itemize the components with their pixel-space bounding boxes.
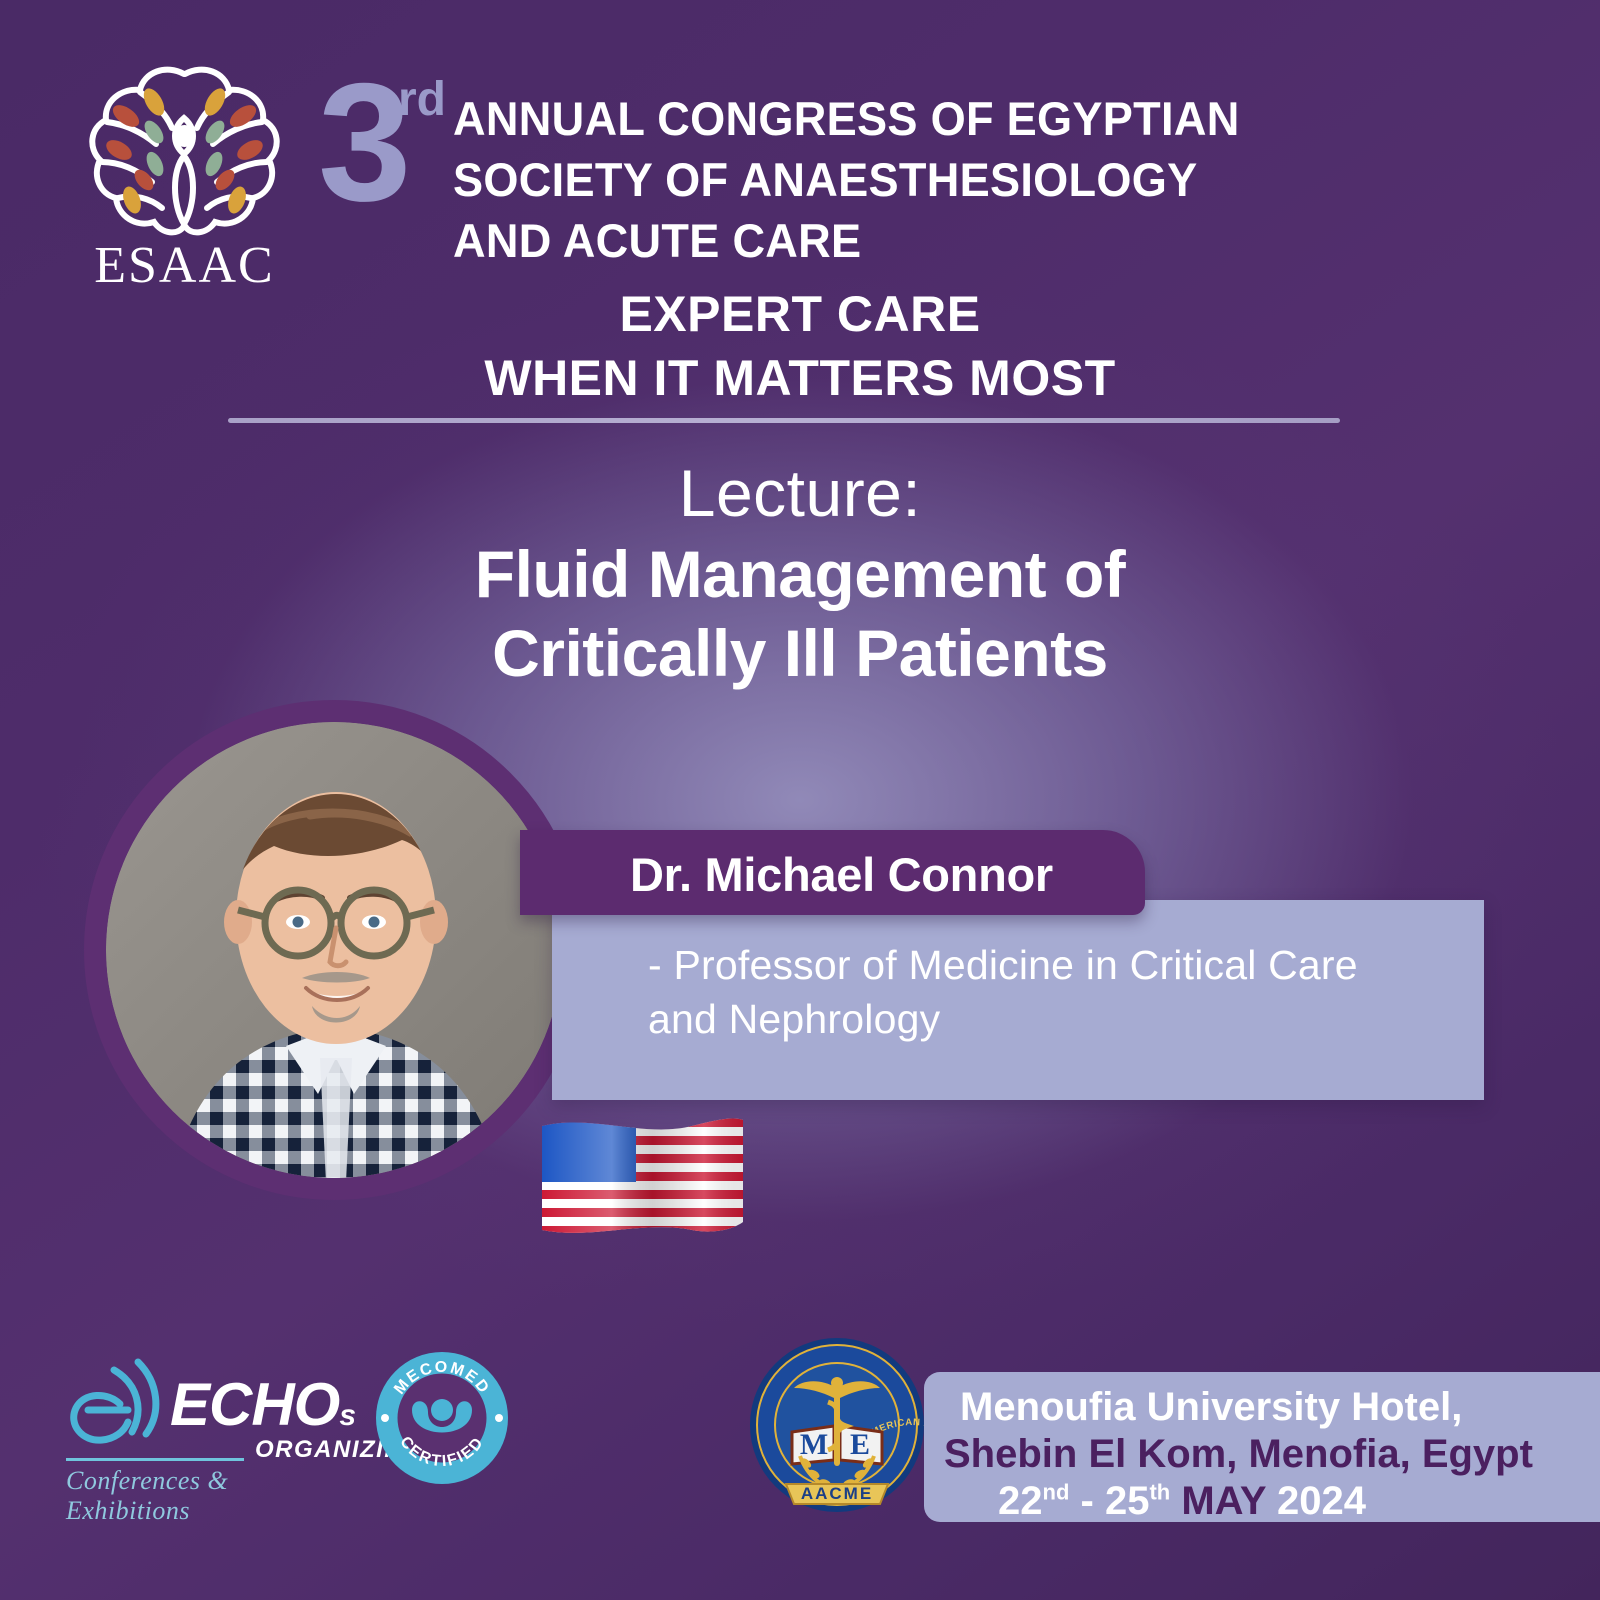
congress-tagline: EXPERT CARE WHEN IT MATTERS MOST: [0, 282, 1600, 410]
tagline-line-2: WHEN IT MATTERS MOST: [0, 346, 1600, 410]
speaker-portrait: [106, 722, 562, 1178]
date-start-suffix: nd: [1043, 1479, 1070, 1504]
venue-line-1: Menoufia University Hotel,: [960, 1384, 1600, 1431]
date-separator: -: [1081, 1479, 1094, 1523]
speaker-role-line-1: - Professor of Medicine in Critical Care: [648, 938, 1448, 992]
speaker-name: Dr. Michael Connor: [630, 847, 1053, 902]
event-dates: 22nd - 25th MAY 2024: [998, 1478, 1600, 1525]
esaac-logo: ESAAC: [62, 58, 307, 293]
event-year: 2024: [1277, 1479, 1366, 1523]
ordinal-suffix: rd: [398, 76, 446, 124]
brain-ornament-icon: [62, 58, 307, 248]
speaker-role: - Professor of Medicine in Critical Care…: [648, 938, 1448, 1046]
congress-header: 3 rd ANNUAL CONGRESS OF EGYPTIAN SOCIETY…: [318, 74, 1328, 271]
venue-date-panel: Menoufia University Hotel, Shebin El Kom…: [924, 1372, 1600, 1522]
lecture-title-line-1: Fluid Management of: [0, 535, 1600, 614]
svg-text:AACME: AACME: [801, 1484, 873, 1503]
echos-descriptor: Conferences & Exhibitions: [66, 1466, 316, 1526]
lecture-title-line-2: Critically Ill Patients: [0, 614, 1600, 693]
venue-line-2: Shebin El Kom, Menofia, Egypt: [944, 1431, 1600, 1478]
congress-title-line-2: SOCIETY OF ANAESTHESIOLOGY: [453, 149, 1293, 210]
speaker-name-banner: Dr. Michael Connor: [520, 830, 1145, 915]
date-end-suffix: th: [1149, 1479, 1170, 1504]
lecture-label: Lecture:: [0, 452, 1600, 535]
echos-rule: [66, 1458, 244, 1461]
tagline-line-1: EXPERT CARE: [0, 282, 1600, 346]
congress-title-line-1: ANNUAL CONGRESS OF EGYPTIAN: [453, 88, 1293, 149]
echos-organizer-logo: ECHOs ORGANIZING Conferences & Exhibitio…: [62, 1348, 392, 1508]
congress-ordinal: 3 rd: [318, 74, 453, 212]
congress-title-line-3: AND ACUTE CARE: [453, 210, 1293, 271]
date-end: 25: [1105, 1479, 1150, 1523]
header-divider: [228, 418, 1340, 423]
lecture-block: Lecture: Fluid Management of Critically …: [0, 452, 1600, 693]
date-start: 22: [998, 1479, 1043, 1523]
mecomed-certified-badge-icon: MECOMED CERTIFIED: [372, 1348, 512, 1488]
svg-text:E: E: [850, 1428, 870, 1461]
aacme-seal-icon: AMERICAN ASSOCIATION of CONTINUING MEDIC…: [748, 1336, 926, 1514]
speaker-role-line-2: and Nephrology: [648, 992, 1448, 1046]
speaker-photo-frame: [84, 700, 584, 1200]
event-month: MAY: [1181, 1479, 1266, 1523]
us-flag-icon: [540, 1112, 745, 1244]
echos-wordmark: ECHOs: [170, 1370, 355, 1439]
svg-text:M: M: [800, 1428, 828, 1461]
conference-announcement-poster: ESAAC 3 rd ANNUAL CONGRESS OF EGYPTIAN S…: [0, 0, 1600, 1600]
